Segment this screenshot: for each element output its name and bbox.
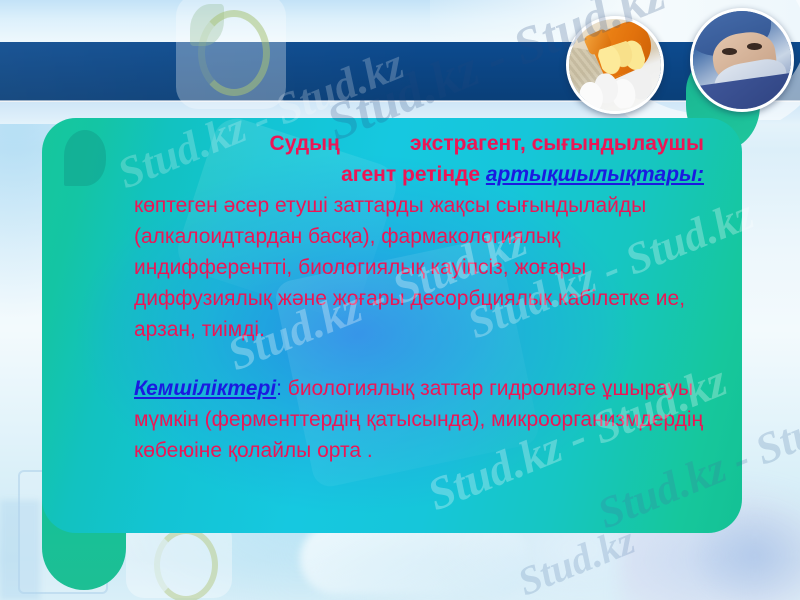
panel-droplet-decoration xyxy=(64,130,106,186)
content-panel: Судың экстрагент, сығындылаушы агент рет… xyxy=(42,118,742,533)
title-line-2-prefix: агент ретінде xyxy=(341,163,486,186)
advantages-link[interactable]: артықшылықтары: xyxy=(486,163,704,186)
pill-bottle-with-capsules-on-money-image xyxy=(566,16,664,114)
paragraph-2: Кемшіліктері: биологиялық заттар гидроли… xyxy=(134,373,704,466)
slide-text-body: Судың экстрагент, сығындылаушы агент рет… xyxy=(134,128,704,466)
paragraph-1-title-line-1: Судың экстрагент, сығындылаушы xyxy=(134,128,704,159)
logo-watermark-top xyxy=(176,0,286,109)
background-equipment-silhouette-b xyxy=(0,500,40,600)
paragraph-1-body: көптеген әсер етуші заттарды жақсы сығын… xyxy=(134,190,704,345)
surgeon-in-mask-image xyxy=(690,8,794,112)
surgeon-eye-right xyxy=(747,43,762,50)
paragraph-1-title-line-2: агент ретінде артықшылықтары: xyxy=(134,159,704,190)
presentation-slide: Судың экстрагент, сығындылаушы агент рет… xyxy=(0,0,800,600)
disadvantages-heading[interactable]: Кемшіліктері xyxy=(134,377,276,400)
background-vial-silhouette xyxy=(300,524,530,594)
title-line-1-continuation: экстрагент, сығындылаушы xyxy=(410,132,704,155)
title-word-sudyn: Судың xyxy=(270,132,340,155)
